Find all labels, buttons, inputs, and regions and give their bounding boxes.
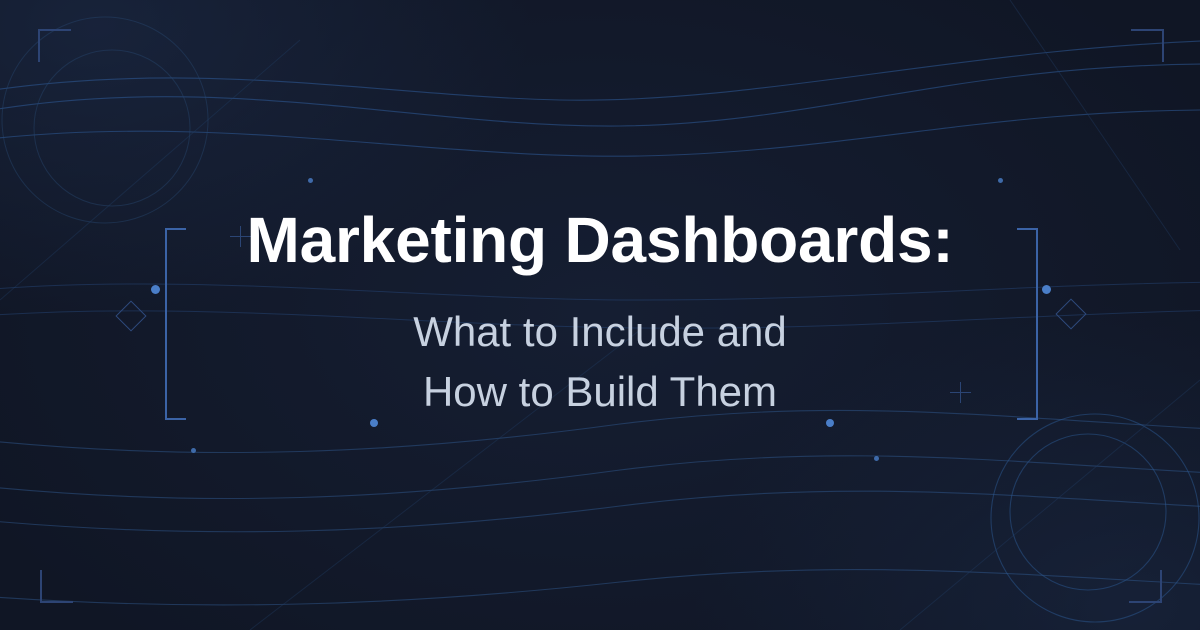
slide-text-block: Marketing Dashboards: What to Include an… xyxy=(0,0,1200,630)
subtitle-line-2: How to Build Them xyxy=(413,362,787,422)
page-subtitle: What to Include and How to Build Them xyxy=(413,302,787,421)
slide-canvas: Marketing Dashboards: What to Include an… xyxy=(0,0,1200,630)
subtitle-line-1: What to Include and xyxy=(413,302,787,362)
page-title: Marketing Dashboards: xyxy=(246,208,953,272)
